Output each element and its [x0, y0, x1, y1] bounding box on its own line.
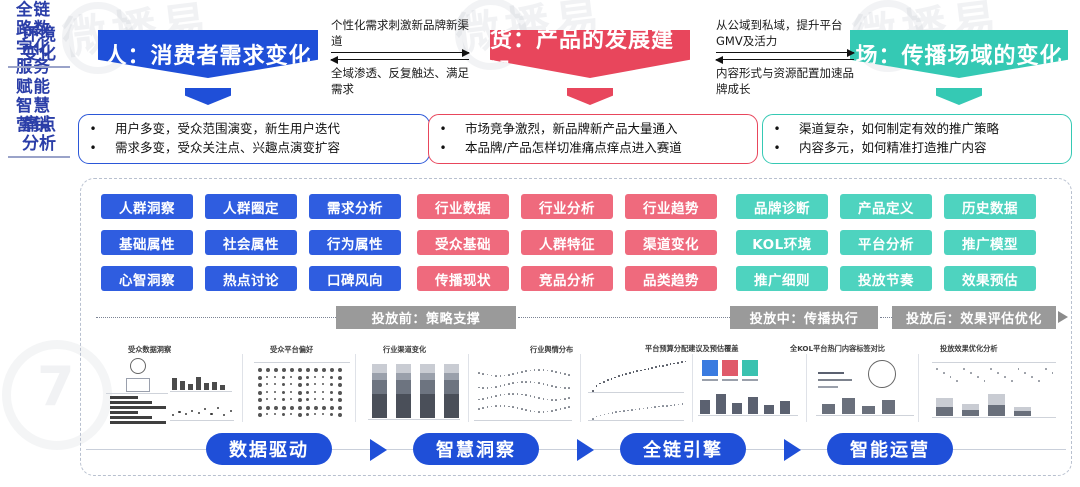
thumbnail-bar	[588, 392, 684, 393]
thumbnail-bar	[254, 362, 350, 363]
thumbnail-bar	[818, 372, 844, 374]
rail-label-pain: 痛点 分析	[8, 116, 70, 158]
thumbnail-dot	[306, 376, 309, 379]
banner-product[interactable]: 货：产品的发展建设	[490, 30, 690, 78]
phase-dash-line	[880, 317, 892, 318]
thumbnail-dot	[936, 368, 938, 370]
tag-19[interactable]: 热点讨论	[205, 266, 297, 291]
thumbnail-dot	[338, 383, 342, 387]
pill-smart-insight[interactable]: 智慧洞察	[413, 433, 539, 465]
tag-23[interactable]: 品类趋势	[625, 266, 717, 291]
rail-underline	[8, 156, 70, 158]
thumbnail-panel	[742, 360, 758, 376]
thumbnail-dot	[963, 368, 965, 370]
annotation-top-text: 个性化需求刺激新品牌新渠道	[331, 18, 471, 49]
phase-pre-launch[interactable]: 投放前：策略支撑	[336, 306, 516, 329]
pill-full-chain-engine[interactable]: 全链引擎	[620, 433, 746, 465]
thumbnail-dot	[282, 368, 286, 372]
thumbnail-dot	[607, 379, 609, 381]
thumbnail-dot	[198, 412, 200, 414]
thumbnail-bar	[962, 410, 979, 416]
thumbnail-dot	[338, 376, 342, 380]
thumbnail-dot	[298, 398, 302, 402]
thumbnail-dot	[274, 376, 276, 378]
thumbnail-dot	[521, 371, 523, 373]
thumbnail-bar	[444, 364, 459, 373]
thumbnail-dot	[274, 391, 276, 393]
bullet-icon: •	[437, 139, 449, 157]
tag-11[interactable]: 行为属性	[309, 230, 401, 255]
thumbnail-bar	[212, 382, 217, 390]
thumbnail-dot	[551, 399, 553, 401]
thumbnail-dot	[508, 393, 510, 395]
thumbnail-bar	[180, 381, 185, 390]
thumbnail-separator	[918, 354, 919, 422]
thumbnail-bar	[372, 380, 387, 394]
annotation-top-text: 从公域到私域，提升平台GMV及活力	[716, 18, 856, 49]
thumbnail-dot	[551, 370, 553, 372]
thumbnail-dot	[338, 413, 342, 417]
thumbnail-dot	[258, 413, 262, 417]
rail-line: 分析	[8, 135, 70, 154]
thumbnail-bar	[110, 411, 138, 414]
thumbnail-dot	[487, 387, 489, 389]
thumbnail-dot	[538, 397, 540, 399]
thumbnail-dot	[495, 395, 497, 397]
thumbnail-dot	[564, 398, 566, 400]
thumbnail-dot	[298, 391, 302, 395]
thumbnail-ring	[130, 358, 146, 374]
thumbnail-bar	[588, 420, 684, 421]
thumbnail-bar	[742, 379, 758, 381]
thumbnail-dot	[662, 405, 664, 407]
thumbnail-dot	[508, 406, 510, 408]
rail-char: 慧	[34, 96, 51, 115]
pain-box-channel: •渠道复杂，如何制定有效的推广策略 •内容多元，如何精准打造推广内容	[762, 114, 1072, 164]
tag-3[interactable]: 行业数据	[417, 194, 509, 219]
thumbnail-dot	[618, 375, 620, 377]
thumbnail-dot	[266, 406, 270, 410]
tag-12[interactable]: 受众基础	[417, 230, 509, 255]
phase-post-launch[interactable]: 投放后：效果评估优化	[892, 306, 1056, 329]
arrow-right-icon	[370, 439, 387, 461]
thumbnail-dot	[266, 368, 270, 372]
rail-char: 链	[34, 0, 51, 19]
thumbnail-bar	[220, 385, 225, 390]
thumbnail-dot	[322, 406, 326, 410]
thumbnail-bar	[700, 400, 710, 414]
thumbnail-bar	[420, 364, 435, 373]
thumbnail-bar	[818, 386, 838, 388]
tag-10[interactable]: 社会属性	[205, 230, 297, 255]
thumbnail-dot	[551, 410, 553, 412]
thumbnail-dot	[543, 369, 545, 371]
thumbnail-label: 行业舆情分布	[530, 345, 573, 355]
thumbnail-separator	[580, 354, 581, 422]
thumbnail-dot	[500, 405, 502, 407]
list-item: •本品牌/产品怎样切准痛点痒点进入赛道	[437, 139, 751, 158]
thumbnail-bar	[732, 403, 742, 414]
thumbnail-dot	[1004, 376, 1006, 378]
bullet-icon: •	[771, 139, 783, 157]
thumbnail-dot	[282, 376, 285, 379]
tag-17[interactable]: 推广模型	[944, 230, 1036, 255]
double-arrow-icon	[331, 50, 469, 65]
thumbnail-bar	[474, 420, 572, 421]
tag-9[interactable]: 基础属性	[101, 230, 193, 255]
thumbnail-dot	[530, 381, 532, 383]
tag-7[interactable]: 产品定义	[840, 194, 932, 219]
pain-item-text: 需求多变，受众关注点、兴趣点演变扩容	[115, 139, 340, 158]
thumbnail-dot	[482, 387, 484, 389]
thumbnail-dot	[266, 391, 268, 393]
thumbnail-bar	[780, 401, 790, 414]
bullet-icon: •	[437, 120, 449, 138]
thumbnail-bar	[932, 362, 1056, 363]
thumbnail-dot	[478, 372, 480, 374]
thumbnail-dot	[551, 385, 553, 387]
tag-26[interactable]: 效果预估	[944, 266, 1036, 291]
thumbnail-bar	[172, 378, 177, 390]
thumbnail-dot	[525, 394, 527, 396]
thumbnail-dot	[670, 405, 672, 407]
thumbnail-label: 受众数据洞察	[128, 345, 171, 355]
thumbnail-dot	[970, 372, 972, 374]
thumbnail-bar	[396, 373, 411, 380]
arrow-right-icon	[784, 439, 801, 461]
thumbnail-bar	[936, 407, 953, 416]
bullet-icon: •	[87, 120, 99, 138]
thumbnail-bar	[764, 405, 774, 414]
tag-5[interactable]: 行业趋势	[625, 194, 717, 219]
pain-box-consumer: •用户多变，受众范围演变，新生用户迭代 •需求多变，受众关注点、兴趣点演变扩容	[78, 114, 430, 164]
thumbnail-bar	[420, 380, 435, 394]
thumbnail-dot	[568, 374, 570, 376]
phase-dash-line	[518, 317, 730, 318]
thumbnail-dot	[538, 411, 540, 413]
rail-char: 赋	[16, 77, 33, 96]
thumbnail-dot	[530, 395, 532, 397]
thumbnail-bar	[372, 373, 387, 380]
thumbnail-separator	[242, 354, 243, 422]
pain-item-text: 用户多变，受众范围演变，新生用户迭代	[115, 120, 340, 139]
thumbnail-dot	[298, 383, 302, 387]
thumbnail-dot	[306, 398, 309, 401]
thumbnail-dot	[538, 369, 540, 371]
tag-25[interactable]: 投放节奏	[840, 266, 932, 291]
thumbnail-dot	[568, 397, 570, 399]
list-item: •用户多变，受众范围演变，新生用户迭代	[87, 120, 423, 139]
rail-char: 全	[16, 0, 33, 19]
thumbnail-panel	[722, 360, 738, 376]
thumbnail-dot	[623, 410, 625, 412]
thumbnail-dot	[306, 368, 310, 372]
thumbnail-dot	[508, 383, 510, 385]
pain-item-text: 内容多元，如何精准打造推广内容	[799, 139, 987, 158]
tag-15[interactable]: KOL环境	[736, 230, 828, 255]
thumbnail-dot	[482, 407, 484, 409]
thumbnail-dot	[508, 374, 510, 376]
thumbnail-dot	[1045, 368, 1047, 370]
thumbnail-bar	[862, 406, 875, 414]
tag-21[interactable]: 传播现状	[417, 266, 509, 291]
thumbnail-dot	[322, 368, 326, 372]
thumbnail-dot	[521, 394, 523, 396]
thumbnail-bar	[396, 364, 411, 373]
phase-during-launch[interactable]: 投放中：传播执行	[730, 306, 878, 329]
tag-13[interactable]: 人群特征	[521, 230, 613, 255]
bullet-icon: •	[771, 120, 783, 138]
thumbnail-bar	[444, 394, 459, 418]
thumbnail-dot	[525, 381, 527, 383]
thumbnail-dot	[543, 383, 545, 385]
double-arrow-icon	[716, 50, 854, 65]
thumbnail-dot	[555, 409, 557, 411]
thumbnail-dot	[666, 405, 668, 407]
thumbnail-bar	[716, 394, 726, 414]
thumbnail-bar	[822, 404, 835, 414]
bullet-icon: •	[87, 139, 99, 157]
thumbnail-dot	[487, 397, 489, 399]
thumbnail-label: 全KOL平台热门内容标签对比	[790, 344, 885, 354]
thumbnail-dot	[495, 386, 497, 388]
thumbnail-separator	[355, 354, 356, 422]
thumbnail-dot	[290, 376, 292, 378]
thumbnail-bar	[882, 400, 895, 414]
thumbnail-separator	[692, 354, 693, 422]
pain-item-text: 渠道复杂，如何制定有效的推广策略	[799, 120, 999, 139]
thumbnail-dot	[555, 371, 557, 373]
thumbnail-bar	[1014, 411, 1031, 416]
thumbnail-dot	[512, 393, 514, 395]
tag-0[interactable]: 人群洞察	[101, 194, 193, 219]
thumbnail-dot	[651, 367, 653, 369]
thumbnail-dot	[298, 376, 302, 380]
thumbnail-dot	[314, 376, 316, 378]
thumbnail-bar	[110, 401, 152, 404]
tag-8[interactable]: 历史数据	[944, 194, 1036, 219]
thumbnail-bar	[196, 377, 201, 390]
thumbnail-bar	[110, 421, 166, 424]
tag-24[interactable]: 推广细则	[736, 266, 828, 291]
phase-dash-line	[96, 317, 336, 318]
thumbnail-dot	[495, 375, 497, 377]
thumbnail-separator	[806, 354, 807, 422]
thumbnail-dot	[1031, 376, 1033, 378]
thumbnail-dot	[655, 366, 657, 368]
thumbnail-dot	[338, 391, 342, 395]
thumbnail-dot	[314, 368, 318, 372]
rail-underline	[8, 66, 70, 68]
thumbnail-label: 投放效果优化分析	[940, 344, 998, 354]
thumbnail-dot	[178, 411, 180, 413]
thumbnail-dot	[525, 409, 527, 411]
thumbnail-dot	[482, 373, 484, 375]
tag-2[interactable]: 需求分析	[309, 194, 401, 219]
rail-label-environment: 环境 变化	[8, 26, 70, 68]
tag-20[interactable]: 口碑风向	[309, 266, 401, 291]
thumbnail-dot	[290, 368, 294, 372]
thumbnail-dot	[543, 411, 545, 413]
thumbnail-bar	[110, 416, 152, 419]
thumbnail-dot	[210, 413, 212, 415]
annotation-bottom-text: 内容形式与资源配置加速品牌成长	[716, 66, 856, 97]
annotation-consumer-product: 个性化需求刺激新品牌新渠道 全域渗透、反复触达、满足需求	[331, 18, 471, 97]
thumbnail-dot	[662, 365, 664, 367]
thumbnail-dot	[266, 376, 268, 378]
thumbnail-dot	[512, 373, 514, 375]
thumbnail-dot	[330, 383, 333, 386]
thumbnail-dot	[555, 386, 557, 388]
thumbnail-dot	[512, 406, 514, 408]
banner-consumer[interactable]: 人：消费者需求变化	[98, 30, 318, 78]
thumbnail-bar	[110, 406, 166, 409]
thumbnail-label: 受众平台偏好	[270, 345, 313, 355]
thumbnail-dot	[282, 413, 285, 416]
thumbnail-dot	[298, 368, 302, 372]
thumbnail-dot	[500, 394, 502, 396]
thumbnail-panel	[702, 360, 718, 376]
thumbnail-bar	[420, 394, 435, 418]
thumbnail-bar	[396, 380, 411, 394]
tag-18[interactable]: 心智洞察	[101, 266, 193, 291]
rail-line: 环境	[8, 26, 70, 45]
thumbnail-dot	[564, 387, 566, 389]
thumbnail-dot	[258, 398, 262, 402]
thumbnail-bar	[420, 373, 435, 380]
thumbnail-dot	[298, 413, 302, 417]
rail-char: 智	[16, 96, 33, 115]
thumbnail-dot	[274, 368, 278, 372]
thumbnail-dot	[495, 405, 497, 407]
thumbnail-dot	[258, 376, 262, 380]
thumbnail-bar	[170, 391, 232, 392]
thumbnail-dot	[603, 381, 605, 383]
thumbnail-dot	[330, 376, 333, 379]
thumbnail-bar	[988, 405, 1005, 416]
thumbnail-dot	[631, 409, 633, 411]
thumbnail-dot	[290, 406, 294, 410]
list-item: •市场竞争激烈，新品牌新产品大量通入	[437, 120, 751, 139]
down-chevron-icon	[567, 88, 613, 105]
arrow-right-icon	[577, 439, 594, 461]
thumbnail-bar	[444, 373, 459, 380]
thumbnail-dot	[943, 372, 945, 374]
banner-channel[interactable]: 场：传播场域的变化	[850, 30, 1068, 78]
thumbnail-dot	[538, 382, 540, 384]
thumbnail-dot	[258, 391, 262, 395]
thumbnail-bar	[204, 383, 209, 390]
thumbnail-dot	[1011, 380, 1013, 382]
thumbnail-dot	[612, 412, 614, 414]
thumbnail-bar	[110, 396, 138, 399]
thumbnail-dot	[322, 391, 324, 393]
thumbnail-dot	[306, 406, 310, 410]
thumbnail-label: 平台预算分配建议及预估覆盖	[645, 344, 738, 354]
thumbnail-dot	[478, 387, 480, 389]
thumbnail-panel	[126, 378, 150, 392]
thumbnail-dot	[521, 408, 523, 410]
thumbnail-bar	[722, 379, 738, 381]
rail-line: 痛点	[8, 116, 70, 135]
down-chevron-icon	[936, 88, 982, 105]
list-item: •需求多变，受众关注点、兴趣点演变扩容	[87, 139, 423, 158]
thumbnail-dot	[629, 372, 631, 374]
thumbnail-bar	[818, 379, 852, 381]
thumbnail-dot	[258, 368, 262, 372]
thumbnail-dot	[282, 398, 285, 401]
tag-16[interactable]: 平台分析	[840, 230, 932, 255]
thumbnail-dot	[977, 376, 979, 378]
thumbnail-bar	[396, 394, 411, 418]
thumbnail-bar	[748, 397, 758, 414]
thumbnail-dot	[282, 391, 285, 394]
thumbnail-dot	[258, 383, 262, 387]
thumbnail-dot	[314, 391, 316, 393]
thumbnail-dot	[314, 406, 318, 410]
thumbnail-dot	[330, 406, 334, 410]
thumbnail-dot	[666, 364, 668, 366]
thumbnail-dot	[500, 375, 502, 377]
thumbnail-dot	[306, 413, 309, 416]
thumbnail-label: 行业渠道变化	[383, 345, 426, 355]
tag-14[interactable]: 渠道变化	[625, 230, 717, 255]
thumbnail-dot	[654, 406, 656, 408]
rail-char: 能	[34, 77, 51, 96]
thumbnail-dot	[677, 362, 679, 364]
thumbnail-dot	[338, 368, 342, 372]
thumbnail-dot	[290, 391, 292, 393]
thumbnail-bar	[372, 394, 387, 418]
thumbnail-dot	[478, 408, 480, 410]
thumbnail-dot	[647, 407, 649, 409]
thumbnail-dot	[530, 410, 532, 412]
thumbnail-ring	[868, 360, 896, 388]
thumbnail-dot	[338, 398, 342, 402]
thumbnail-bar	[444, 380, 459, 394]
thumbnail-dot	[330, 413, 333, 416]
pill-smart-operation[interactable]: 智能运营	[827, 433, 953, 465]
thumbnail-bar	[702, 379, 718, 381]
tag-1[interactable]: 人群圈定	[205, 194, 297, 219]
thumbnail-dot	[555, 399, 557, 401]
pill-data-driven[interactable]: 数据驱动	[206, 433, 332, 465]
list-item: •内容多元，如何精准打造推广内容	[771, 139, 1065, 158]
pain-item-text: 本品牌/产品怎样切准痛点痒点进入赛道	[465, 139, 682, 158]
thumbnail-dot	[330, 398, 333, 401]
thumbnail-dot	[521, 381, 523, 383]
thumbnail-dot	[564, 373, 566, 375]
thumbnail-dot	[306, 391, 309, 394]
rail-line: 变化	[8, 45, 70, 64]
down-chevron-icon	[185, 88, 231, 105]
tag-6[interactable]: 品牌诊断	[736, 194, 828, 219]
thumbnail-bar	[816, 415, 914, 416]
thumbnail-dot	[1038, 380, 1040, 382]
thumbnail-dot	[330, 391, 333, 394]
tag-4[interactable]: 行业分析	[521, 194, 613, 219]
thumbnail-bar	[106, 393, 168, 394]
annotation-product-channel: 从公域到私域，提升平台GMV及活力 内容形式与资源配置加速品牌成长	[716, 18, 856, 97]
tag-22[interactable]: 竞品分析	[521, 266, 613, 291]
thumbnail-dot	[568, 387, 570, 389]
thumbnail-bar	[170, 420, 234, 421]
thumbnail-bar	[372, 364, 387, 373]
thumbnail-dot	[258, 406, 262, 410]
thumbnail-bar	[698, 415, 798, 416]
thumbnail-dot	[230, 410, 232, 412]
thumbnail-dot	[322, 376, 324, 378]
